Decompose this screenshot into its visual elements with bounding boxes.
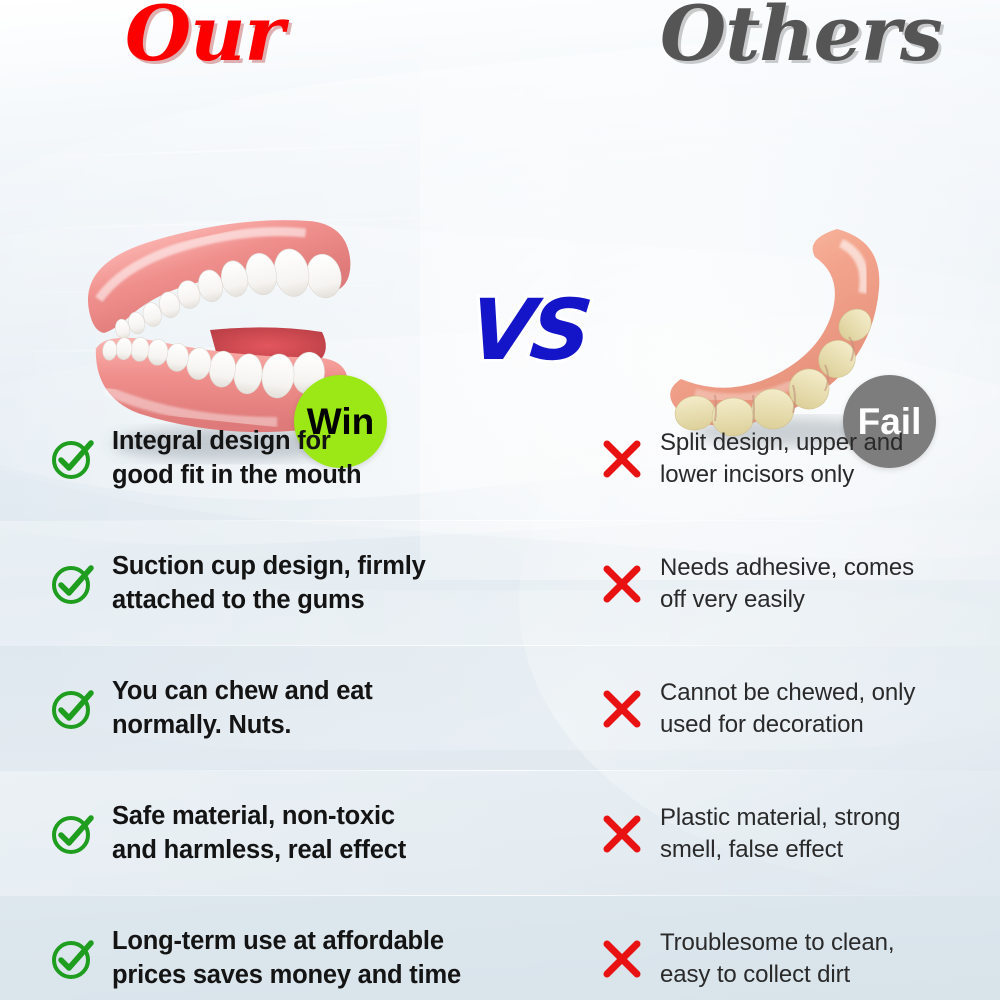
con-line: smell, false effect	[660, 834, 900, 865]
header-our: Our	[125, 0, 284, 72]
comparison-table: Integral design for good fit in the mout…	[0, 396, 1000, 1000]
check-circle-icon	[50, 811, 96, 857]
pro-line: good fit in the mouth	[112, 459, 361, 492]
con-line: Plastic material, strong	[660, 802, 900, 833]
header-others: Others	[660, 0, 942, 72]
con-cell: Plastic material, strong smell, false ef…	[590, 771, 1000, 896]
cross-icon	[600, 437, 644, 481]
check-circle-icon	[50, 436, 96, 482]
cross-icon	[600, 687, 644, 731]
pro-line: Long-term use at affordable	[112, 925, 461, 958]
con-line: lower incisors only	[660, 459, 903, 490]
check-circle-icon	[50, 686, 96, 732]
pro-text: You can chew and eat normally. Nuts.	[112, 675, 373, 741]
pro-line: Suction cup design, firmly	[112, 550, 426, 583]
con-line: Split design, upper and	[660, 427, 903, 458]
cross-icon	[600, 812, 644, 856]
con-line: Needs adhesive, comes	[660, 552, 914, 583]
table-row: Safe material, non-toxic and harmless, r…	[0, 771, 1000, 896]
cross-icon	[600, 562, 644, 606]
table-row: Integral design for good fit in the mout…	[0, 396, 1000, 521]
table-row: Suction cup design, firmly attached to t…	[0, 521, 1000, 646]
con-line: off very easily	[660, 584, 914, 615]
con-line: used for decoration	[660, 709, 915, 740]
pro-cell: Long-term use at affordable prices saves…	[0, 896, 590, 1000]
pro-cell: Integral design for good fit in the mout…	[0, 396, 590, 521]
pro-text: Integral design for good fit in the mout…	[112, 425, 361, 491]
pro-text: Long-term use at affordable prices saves…	[112, 925, 461, 991]
con-cell: Split design, upper and lower incisors o…	[590, 396, 1000, 521]
con-text: Cannot be chewed, only used for decorati…	[660, 677, 915, 739]
check-circle-icon	[50, 936, 96, 982]
pro-line: normally. Nuts.	[112, 709, 373, 742]
pro-cell: You can chew and eat normally. Nuts.	[0, 646, 590, 771]
con-text: Troublesome to clean, easy to collect di…	[660, 927, 894, 989]
con-line: Cannot be chewed, only	[660, 677, 915, 708]
con-cell: Troublesome to clean, easy to collect di…	[590, 896, 1000, 1000]
pro-line: attached to the gums	[112, 584, 426, 617]
pro-text: Suction cup design, firmly attached to t…	[112, 550, 426, 616]
con-line: easy to collect dirt	[660, 959, 894, 990]
con-text: Plastic material, strong smell, false ef…	[660, 802, 900, 864]
pro-text: Safe material, non-toxic and harmless, r…	[112, 800, 406, 866]
comparison-infographic: Our Others	[0, 0, 1000, 1000]
pro-line: You can chew and eat	[112, 675, 373, 708]
pro-line: prices saves money and time	[112, 959, 461, 992]
table-row: Long-term use at affordable prices saves…	[0, 896, 1000, 1000]
check-circle-icon	[50, 561, 96, 607]
table-row: You can chew and eat normally. Nuts. Can…	[0, 646, 1000, 771]
con-cell: Cannot be chewed, only used for decorati…	[590, 646, 1000, 771]
pro-cell: Safe material, non-toxic and harmless, r…	[0, 771, 590, 896]
con-text: Needs adhesive, comes off very easily	[660, 552, 914, 614]
pro-line: Safe material, non-toxic	[112, 800, 406, 833]
pro-cell: Suction cup design, firmly attached to t…	[0, 521, 590, 646]
pro-line: Integral design for	[112, 425, 361, 458]
con-line: Troublesome to clean,	[660, 927, 894, 958]
pro-line: and harmless, real effect	[112, 834, 406, 867]
cross-icon	[600, 937, 644, 981]
con-text: Split design, upper and lower incisors o…	[660, 427, 903, 489]
versus-label: VS	[466, 288, 592, 372]
con-cell: Needs adhesive, comes off very easily	[590, 521, 1000, 646]
hero-section: VS Win Fail	[0, 92, 1000, 392]
